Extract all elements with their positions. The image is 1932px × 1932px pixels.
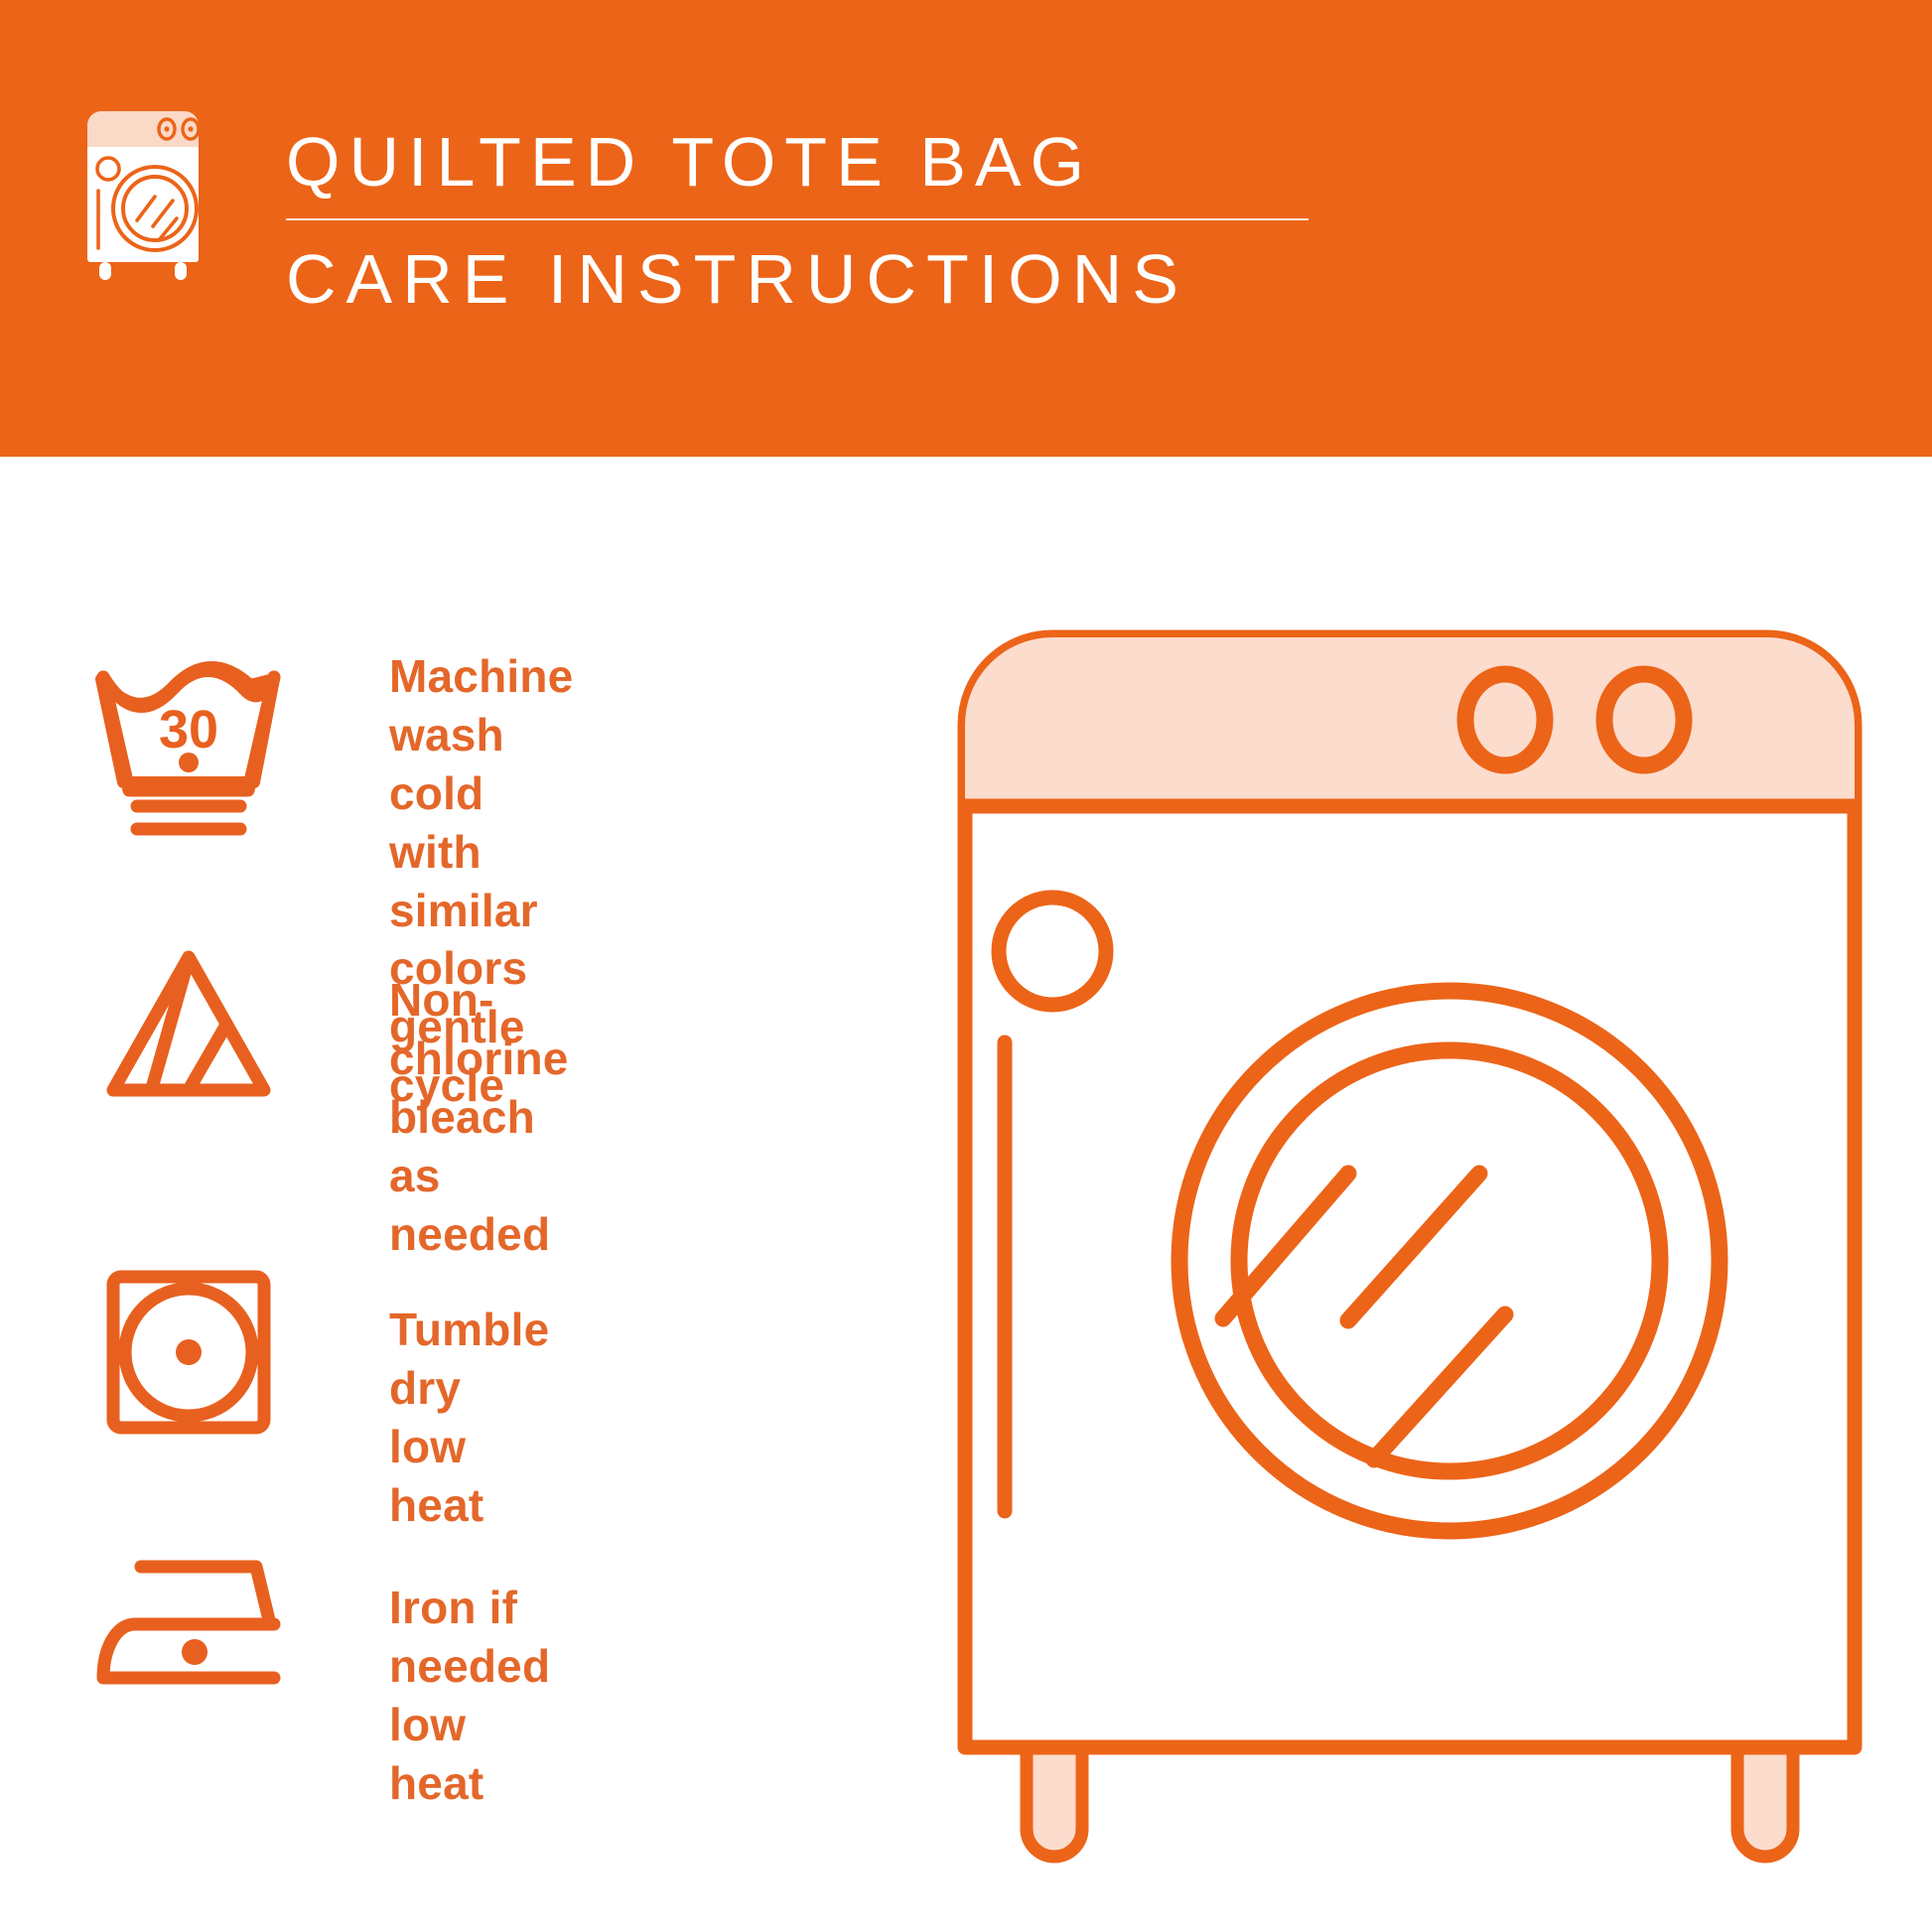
wash-tub-30-gentle-icon: 30 bbox=[89, 655, 288, 854]
leg-left bbox=[1027, 1737, 1082, 1857]
wash-temp-label: 30 bbox=[159, 700, 218, 759]
tumble-dry-low-heat-icon bbox=[89, 1251, 288, 1449]
page-title: QUILTED TOTE BAG bbox=[286, 127, 1309, 197]
header-text-block: QUILTED TOTE BAG CARE INSTRUCTIONS bbox=[286, 127, 1309, 314]
title-divider bbox=[286, 218, 1309, 220]
washing-machine-illustration bbox=[953, 625, 1866, 1886]
header-banner: QUILTED TOTE BAG CARE INSTRUCTIONS bbox=[0, 0, 1932, 457]
care-item-text: Tumble dry low heat bbox=[389, 1301, 549, 1535]
care-instructions-poster: QUILTED TOTE BAG CARE INSTRUCTIONS bbox=[0, 0, 1932, 1932]
page-subtitle: CARE INSTRUCTIONS bbox=[286, 244, 1309, 314]
care-item-text: Iron if needed low heat bbox=[389, 1579, 550, 1813]
iron-low-heat-icon bbox=[89, 1529, 288, 1727]
non-chlorine-bleach-triangle-icon bbox=[89, 933, 288, 1132]
leg-right bbox=[1737, 1737, 1793, 1857]
care-item-text: Non-chlorine bleach as needed bbox=[389, 971, 569, 1263]
control-panel bbox=[965, 637, 1855, 806]
washing-machine-logo-icon bbox=[69, 109, 218, 283]
